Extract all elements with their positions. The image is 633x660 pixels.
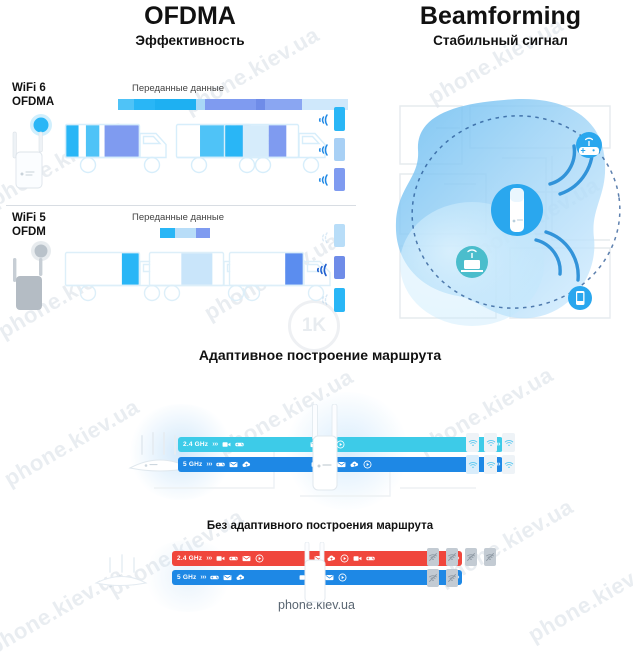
cargo-block: [66, 253, 122, 285]
cloud-icon: [242, 460, 251, 469]
cargo-block: [99, 125, 104, 157]
cargo-block: [105, 125, 139, 157]
strip-segment: [118, 99, 134, 110]
video-icon: [353, 554, 362, 563]
signal-arc-icon: [313, 172, 331, 193]
band-label: 5 GHz: [177, 574, 196, 581]
chevron-right-icon: ›››: [212, 441, 218, 448]
wifi6-data-strip: [118, 99, 348, 110]
cargo-block: [150, 253, 181, 285]
cloud-icon: [236, 573, 245, 582]
play-icon: [363, 460, 372, 469]
section-divider: [6, 205, 356, 206]
band-label: 2.4 GHz: [183, 441, 208, 448]
no-signal-device: [446, 569, 458, 587]
mail-icon: [242, 554, 251, 563]
play-icon: [255, 554, 264, 563]
wifi6-extender: [10, 112, 70, 195]
receiver-bar: [334, 138, 345, 161]
device-laptop: [456, 246, 488, 278]
strip-segment: [265, 99, 302, 110]
cargo-block: [243, 125, 269, 157]
cargo-block: [177, 125, 200, 157]
cargo-block: [181, 253, 212, 285]
cargo-block: [212, 253, 222, 285]
wifi6-caption: Переданные данные: [132, 83, 224, 94]
wifi6-label: WiFi 6 OFDMA: [12, 82, 54, 109]
strip-segment: [175, 228, 196, 238]
no-signal-device: [465, 548, 477, 566]
page-title-ofdma: OFDMA: [60, 2, 320, 31]
strip-segment: [196, 228, 210, 238]
strip-segment: [196, 99, 205, 110]
connected-device: [484, 433, 497, 452]
router-device-small: [90, 550, 150, 595]
chevron-right-icon: ›››: [206, 461, 212, 468]
receiver-bar: [334, 224, 345, 247]
no-signal-device: [427, 569, 439, 587]
signal-arc-icon: [313, 112, 331, 133]
chevron-right-icon: ›››: [206, 555, 212, 562]
mail-icon: [223, 573, 232, 582]
gamepad-icon: [216, 460, 225, 469]
wifi5-label: WiFi 5 OFDM: [12, 212, 46, 239]
no-signal-device: [446, 548, 458, 566]
receiver-bar: [334, 288, 345, 312]
device-phone: [568, 286, 592, 310]
cargo-block: [269, 125, 287, 157]
truck: [64, 120, 179, 176]
wifi6-label-line1: WiFi 6: [12, 82, 46, 94]
signal-arc-icon: [313, 142, 331, 163]
mail-icon: [229, 460, 238, 469]
strip-segment: [134, 99, 155, 110]
section-title-adaptive: Адаптивное построение маршрута: [110, 347, 530, 363]
watermark: phone.kiev.ua: [0, 394, 144, 492]
cargo-block: [285, 253, 303, 285]
no-signal-device: [427, 548, 439, 566]
wifi5-label-line2: OFDM: [12, 226, 46, 238]
wifi5-caption: Переданные данные: [132, 212, 224, 223]
device-gamepad: [576, 132, 602, 158]
strip-segment: [160, 228, 175, 238]
chevron-right-icon: ›››: [200, 574, 206, 581]
gamepad-icon: [229, 554, 238, 563]
gamepad-icon: [366, 554, 375, 563]
gamepad-icon: [210, 573, 219, 582]
connected-device: [466, 433, 479, 452]
cargo-block: [230, 253, 285, 285]
wifi5-data-strip: [160, 228, 210, 238]
connected-device: [466, 455, 479, 474]
extender-device: [302, 404, 348, 497]
play-icon: [340, 554, 349, 563]
gamepad-icon: [235, 440, 244, 449]
strip-segment: [256, 99, 265, 110]
wifi5-extender: [10, 240, 70, 317]
beamforming-illustration: [384, 88, 629, 343]
infographic-root: phone.kiev.ua phone.kiev.ua phone.kiev.u…: [0, 0, 633, 632]
page-title-beamforming: Beamforming: [368, 2, 633, 31]
page-subtitle-ofdma: Эффективность: [60, 33, 320, 48]
strip-segment: [205, 99, 256, 110]
cargo-block: [122, 253, 139, 285]
strip-segment: [155, 99, 196, 110]
receiver-bar: [334, 168, 345, 191]
signal-arc-icon: [313, 292, 331, 313]
extender-device-small: [297, 542, 333, 609]
cargo-block: [225, 125, 243, 157]
connected-device: [502, 455, 515, 474]
play-icon: [338, 573, 347, 582]
band-label: 2.4 GHz: [177, 555, 202, 562]
no-signal-device: [484, 548, 496, 566]
section-title-non-adaptive: Без адаптивного построения маршрута: [130, 520, 510, 532]
signal-arc-icon: [311, 262, 331, 283]
cloud-icon: [350, 460, 359, 469]
receiver-bar: [334, 107, 345, 131]
connected-device: [484, 455, 497, 474]
video-icon: [216, 554, 225, 563]
cargo-block: [86, 125, 99, 157]
cargo-block: [66, 125, 78, 157]
connected-device: [502, 433, 515, 452]
wifi6-label-line2: OFDMA: [12, 96, 54, 108]
cargo-block: [79, 125, 86, 157]
signal-arc-icon: [313, 230, 331, 251]
wifi5-label-line1: WiFi 5: [12, 212, 46, 224]
cargo-block: [286, 125, 297, 157]
video-icon: [222, 440, 231, 449]
page-subtitle-beamforming: Стабильный сигнал: [368, 33, 633, 48]
receiver-bar: [334, 256, 345, 279]
band-label: 5 GHz: [183, 461, 202, 468]
